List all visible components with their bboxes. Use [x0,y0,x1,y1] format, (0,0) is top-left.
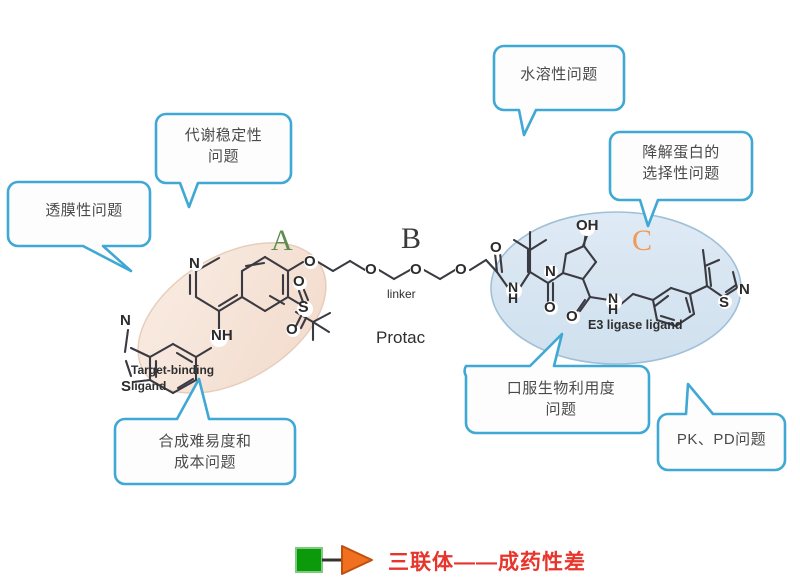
diagram-canvas: N O O O O S O O NH N S O NH O N OH O NH … [0,0,800,585]
legend-caption: 三联体——成药性差 [388,546,586,576]
legend-marker [0,0,800,585]
legend-orange-arrow-icon [342,546,372,574]
legend-green-square [296,548,322,572]
